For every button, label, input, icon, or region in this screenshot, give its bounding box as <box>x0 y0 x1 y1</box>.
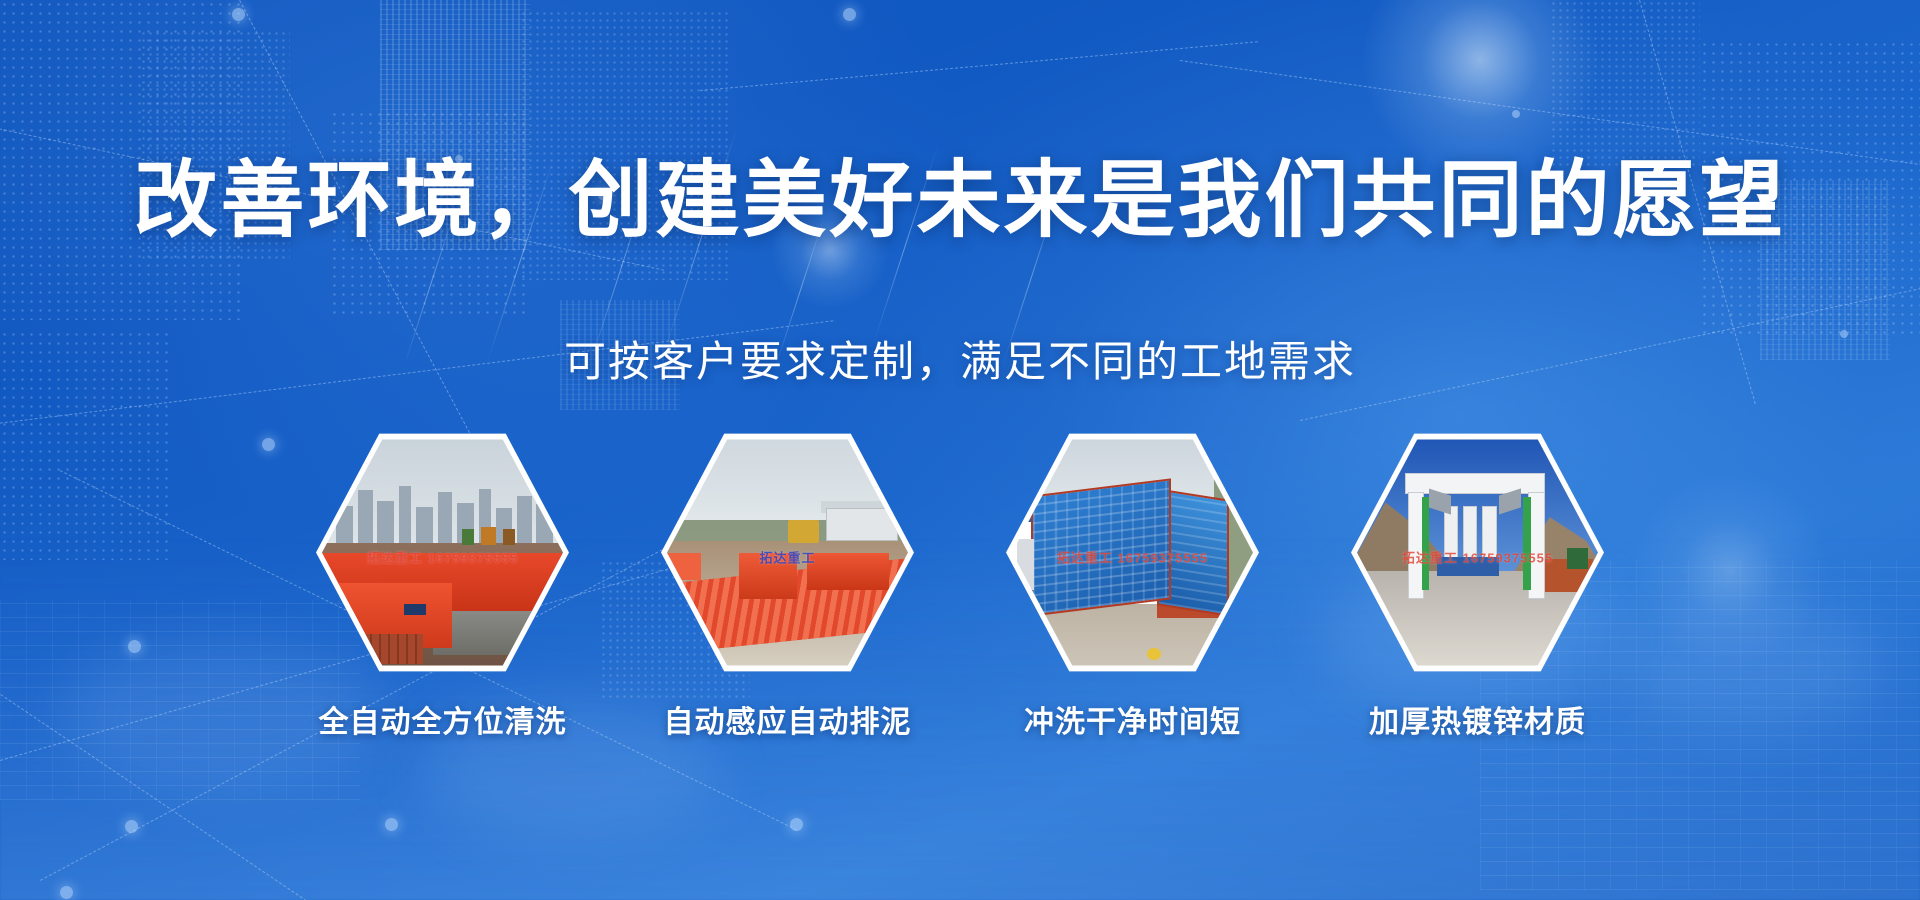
hexagon-frame[interactable]: 拓达重工 <box>661 430 914 675</box>
feature-item[interactable]: 拓达重工 16759375555 加厚热镀锌材质 <box>1351 430 1604 741</box>
page-title: 改善环境，创建美好未来是我们共同的愿望 <box>0 158 1920 242</box>
watermark: 拓达重工 16759375555 <box>1402 548 1553 567</box>
watermark: 拓达重工 16759375555 <box>1057 548 1208 567</box>
feature-caption: 冲洗干净时间短 <box>1024 697 1241 741</box>
network-line <box>700 41 1258 91</box>
city-skyline <box>322 483 563 544</box>
network-node <box>232 8 245 21</box>
network-node <box>125 820 138 833</box>
watermark: 拓达重工 16759375555 <box>367 548 518 567</box>
hexagon-frame[interactable]: 拓达重工 16759375555 <box>316 430 569 675</box>
hexagon-frame[interactable]: 拓达重工 16759375555 <box>1006 430 1259 675</box>
hexagon-photo: 拓达重工 16759375555 <box>1012 436 1253 669</box>
feature-item[interactable]: 拓达重工 16759375555 冲洗干净时间短 <box>1006 430 1259 741</box>
feature-item[interactable]: 拓达重工 自动感应自动排泥 <box>661 430 914 741</box>
feature-caption: 自动感应自动排泥 <box>664 697 912 741</box>
hexagon-photo: 拓达重工 <box>667 436 908 669</box>
promotional-banner: 改善环境，创建美好未来是我们共同的愿望 可按客户要求定制，满足不同的工地需求 <box>0 0 1920 900</box>
network-node <box>1512 110 1520 118</box>
feature-caption: 全自动全方位清洗 <box>319 697 567 741</box>
dot-grid-patch <box>1550 0 1700 170</box>
network-node <box>60 886 73 899</box>
watermark: 拓达重工 <box>759 548 815 567</box>
feature-item[interactable]: 拓达重工 16759375555 全自动全方位清洗 <box>316 430 569 741</box>
feature-list: 拓达重工 16759375555 全自动全方位清洗 <box>0 430 1920 741</box>
hexagon-photo: 拓达重工 16759375555 <box>322 436 563 669</box>
feature-caption: 加厚热镀锌材质 <box>1369 697 1586 741</box>
hexagon-frame[interactable]: 拓达重工 16759375555 <box>1351 430 1604 675</box>
page-subtitle: 可按客户要求定制，满足不同的工地需求 <box>0 328 1920 389</box>
network-node <box>790 818 803 831</box>
network-node <box>843 8 856 21</box>
hexagon-photo: 拓达重工 16759375555 <box>1357 436 1598 669</box>
network-node <box>385 818 398 831</box>
